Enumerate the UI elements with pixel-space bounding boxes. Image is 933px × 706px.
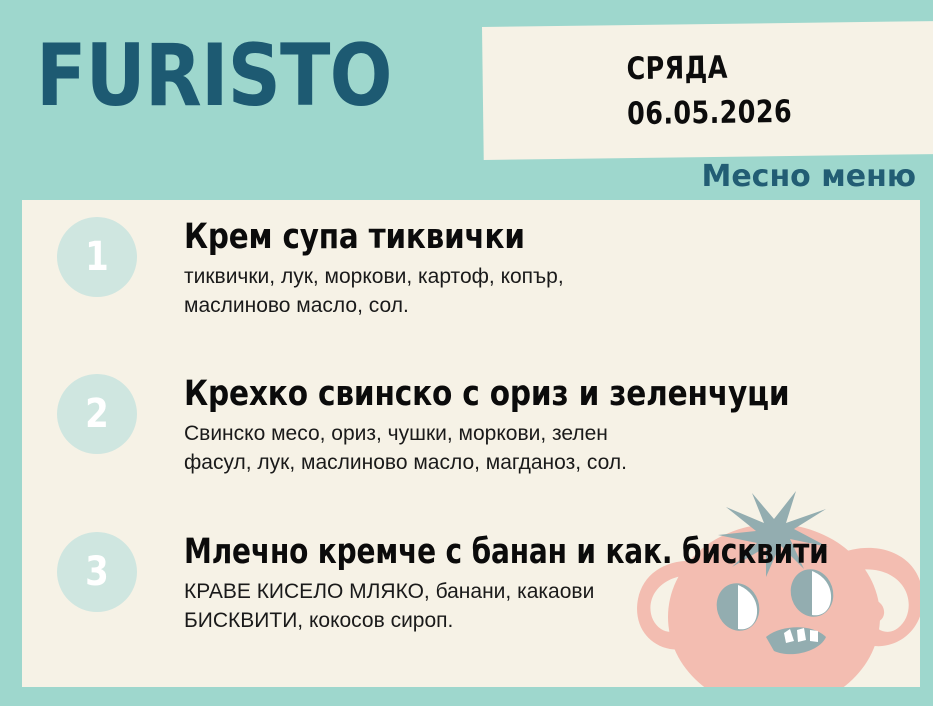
menu-item-number: 3 [85, 552, 109, 592]
menu-item-title: Крем супа тиквички [184, 215, 800, 259]
menu-item-number-badge: 1 [57, 217, 137, 297]
date-value: 06.05.2026 [627, 88, 895, 136]
menu-item-description: тиквички, лук, моркови, картоф, копър, м… [184, 262, 917, 320]
menu-item-number: 2 [85, 394, 109, 434]
poster-header: FURISTO СРЯДА 06.05.2026 Месно меню [0, 0, 933, 200]
menu-item-number-badge: 2 [57, 374, 137, 454]
date-weekday: СРЯДА [626, 43, 894, 91]
menu-item-description: Свинско месо, ориз, чушки, моркови, зеле… [184, 419, 917, 477]
menu-poster: FURISTO СРЯДА 06.05.2026 Месно меню [0, 0, 933, 706]
menu-item-number: 1 [85, 237, 109, 277]
menu-item-title: Крехко свинско с ориз и зеленчуци [184, 372, 803, 416]
date-card: СРЯДА 06.05.2026 [482, 21, 933, 160]
menu-kind-label: Месно меню [701, 160, 916, 194]
menu-item-description: КРАВЕ КИСЕЛО МЛЯКО, банани, какаови БИСК… [184, 577, 917, 635]
menu-item-list: 1 Крем супа тиквички тиквички, лук, морк… [22, 200, 920, 687]
menu-item-title: Млечно кремче с банан и как. бисквити [184, 530, 770, 574]
menu-item-number-badge: 3 [57, 532, 137, 612]
menu-card: 1 Крем супа тиквички тиквички, лук, морк… [22, 200, 920, 687]
brand-logo: FURISTO [36, 33, 392, 119]
